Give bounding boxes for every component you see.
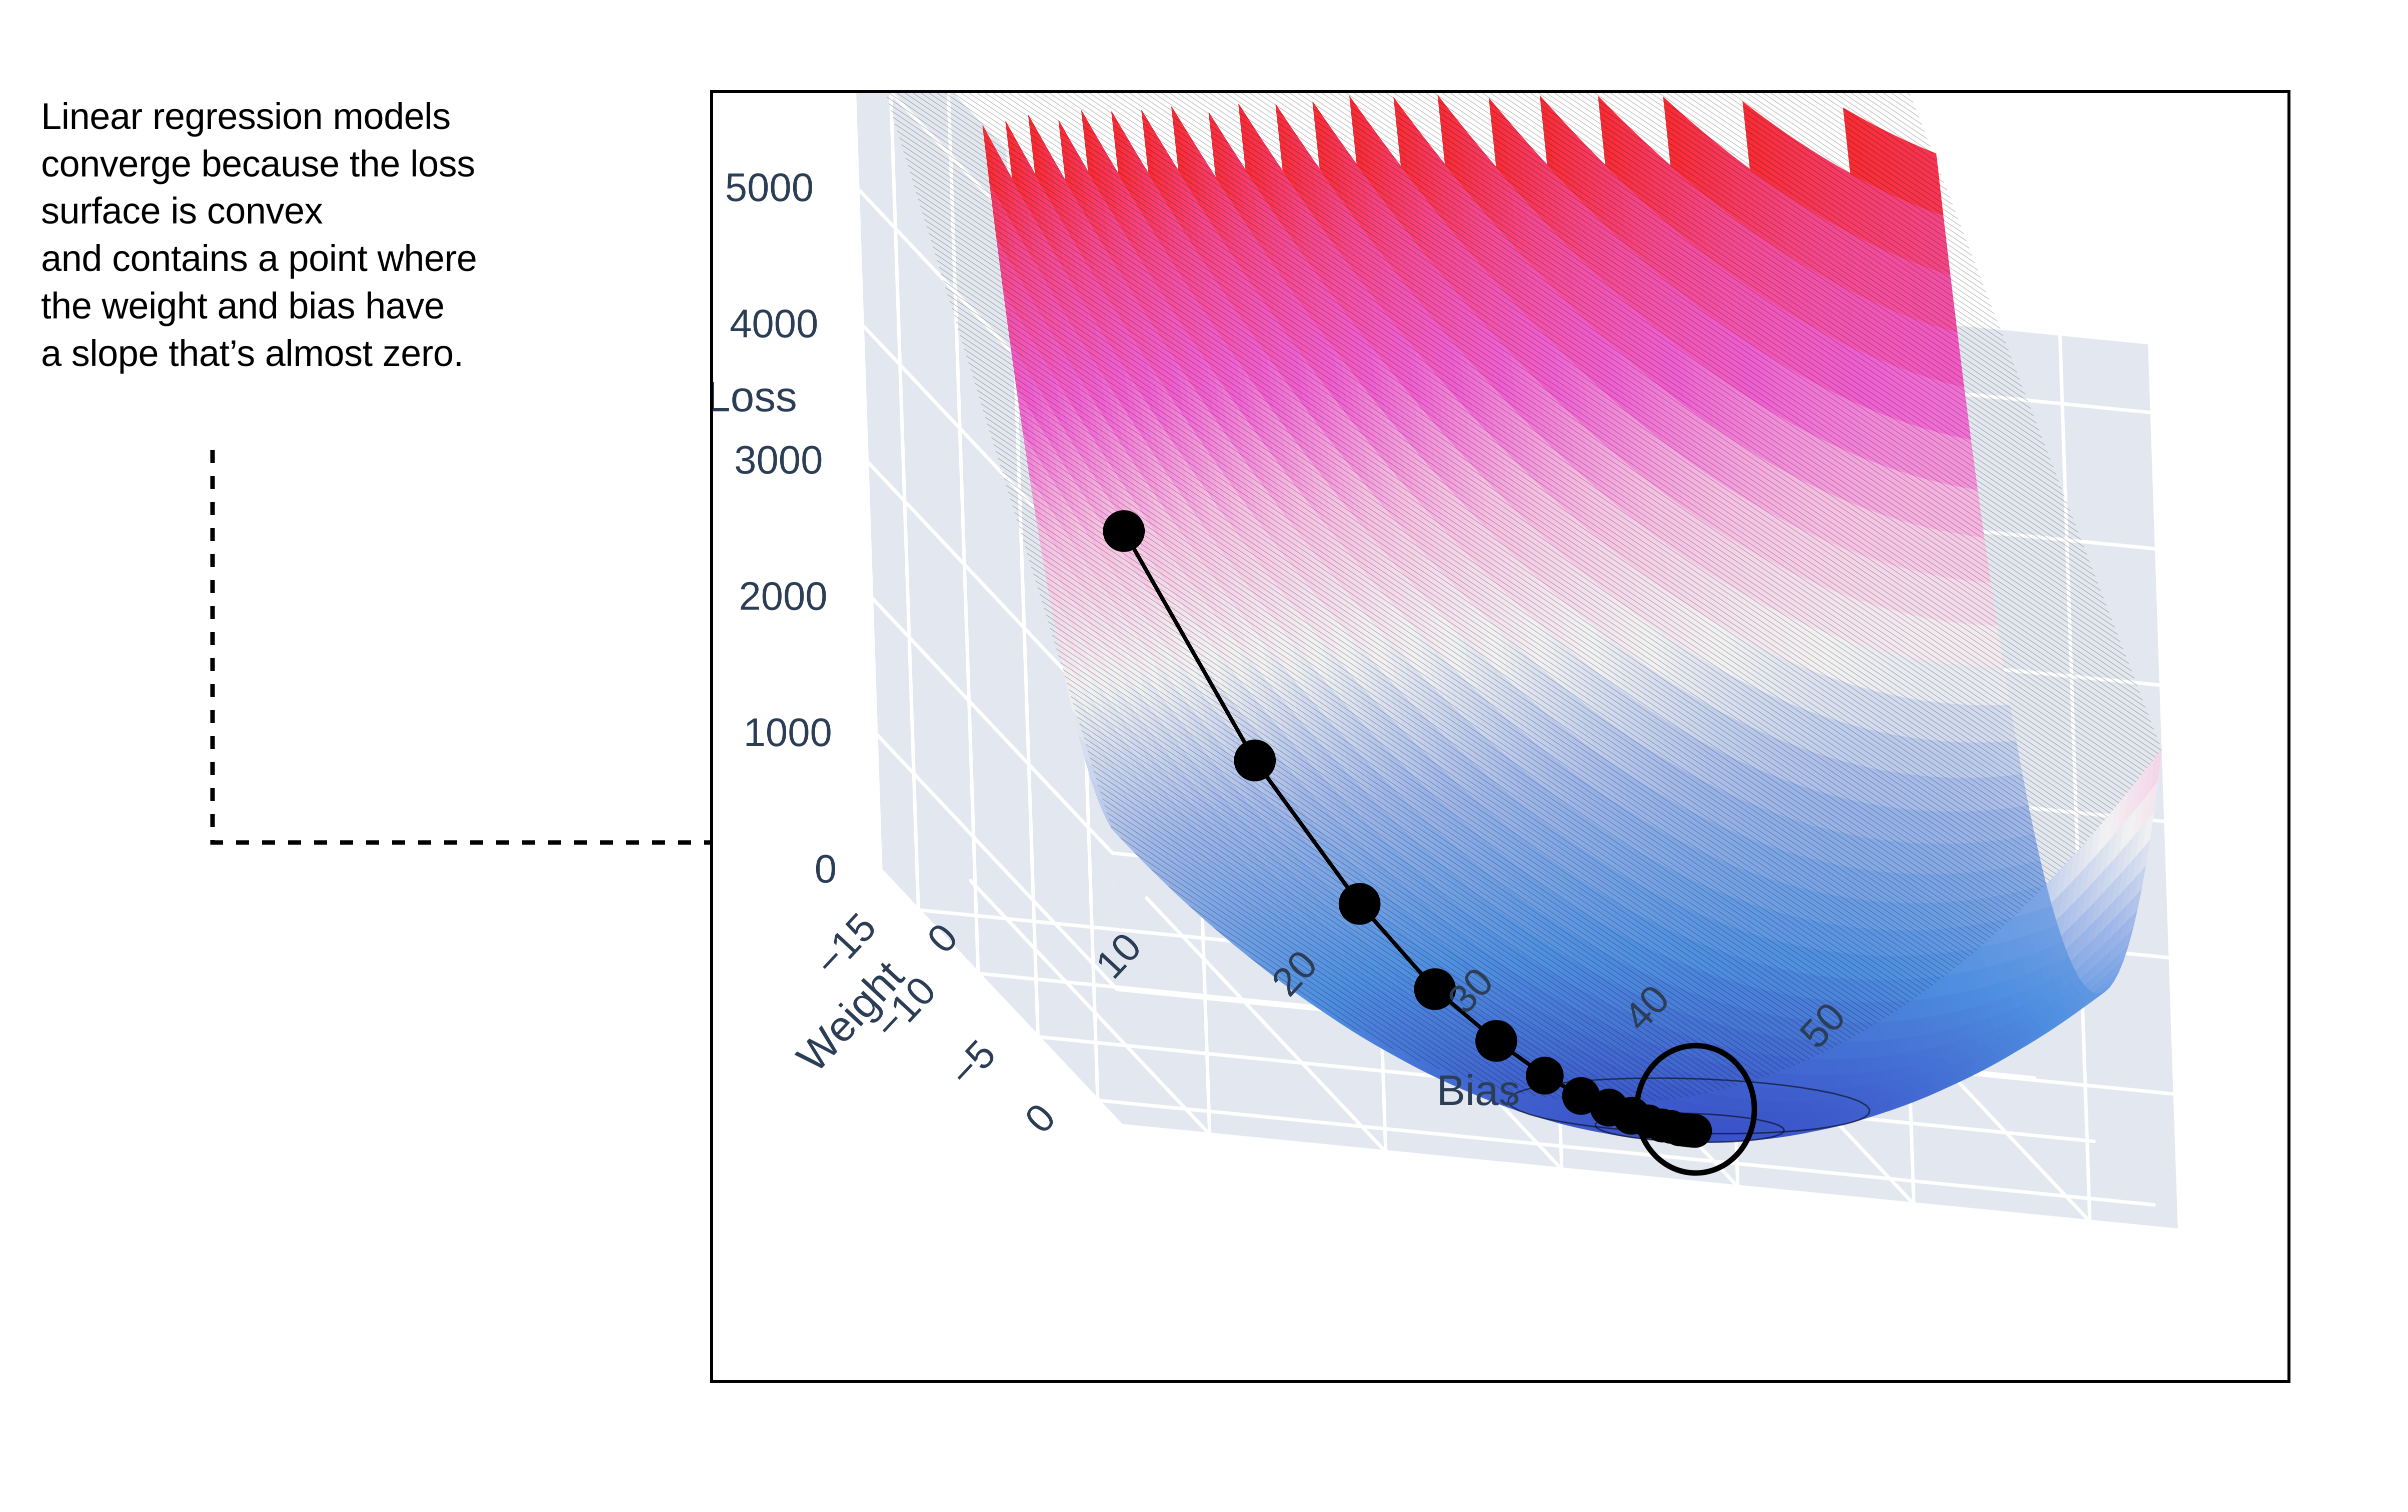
axis-tick-label: 5000: [725, 165, 814, 209]
axis-tick-label: 4000: [730, 301, 818, 345]
axis-tick-label: 3000: [734, 437, 823, 482]
trajectory-marker: [1678, 1114, 1712, 1148]
axis-title-bias: Bias: [1437, 1066, 1520, 1114]
trajectory-marker: [1103, 510, 1145, 552]
axis-tick-label: 0: [1016, 1095, 1064, 1141]
annotation-text: Linear regression models converge becaus…: [41, 93, 676, 377]
axis-tick-label: 1000: [744, 710, 832, 754]
axis-tick-label: 2000: [739, 574, 827, 618]
trajectory-marker: [1234, 739, 1276, 781]
trajectory-marker: [1475, 1020, 1517, 1062]
axis-title-loss: Loss: [713, 372, 797, 420]
trajectory-marker: [1526, 1057, 1564, 1095]
trajectory-marker: [1339, 883, 1381, 925]
loss-surface-3d-chart: 0100020003000400050006000−15−10−50010203…: [713, 93, 2287, 1380]
axis-tick-label: 0: [815, 846, 837, 891]
axis-tick-label: −5: [941, 1031, 1004, 1095]
chart-panel: 0100020003000400050006000−15−10−50010203…: [710, 90, 2290, 1383]
